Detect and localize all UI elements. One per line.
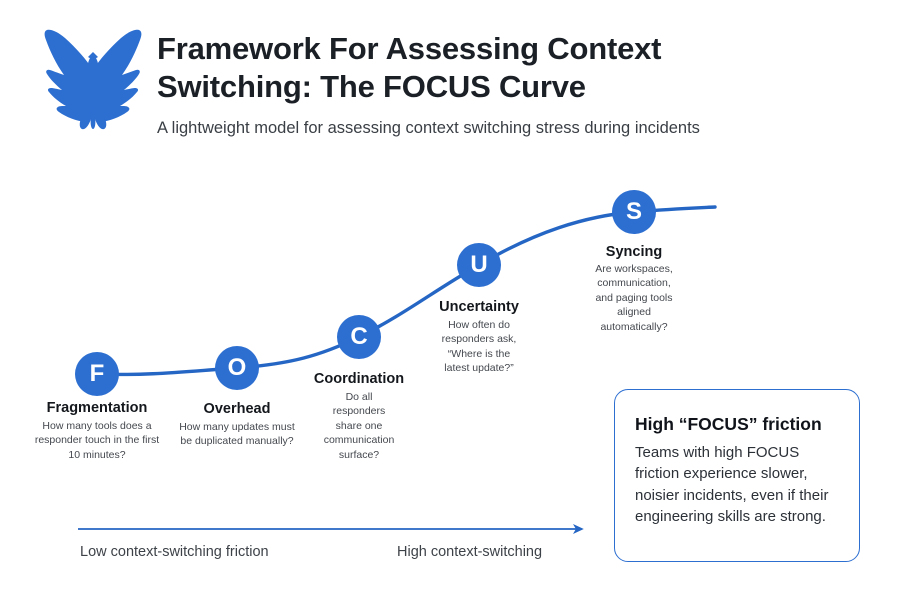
axis-label-high: High context-switching [397,544,542,560]
callout-body: Teams with high FOCUS friction experienc… [635,442,839,527]
infographic-canvas: Framework For Assessing Context Switchin… [0,0,900,600]
callout-title: High “FOCUS” friction [635,414,839,435]
callout-box: High “FOCUS” friction Teams with high FO… [614,389,860,562]
axis-label-low: Low context-switching friction [80,544,269,560]
